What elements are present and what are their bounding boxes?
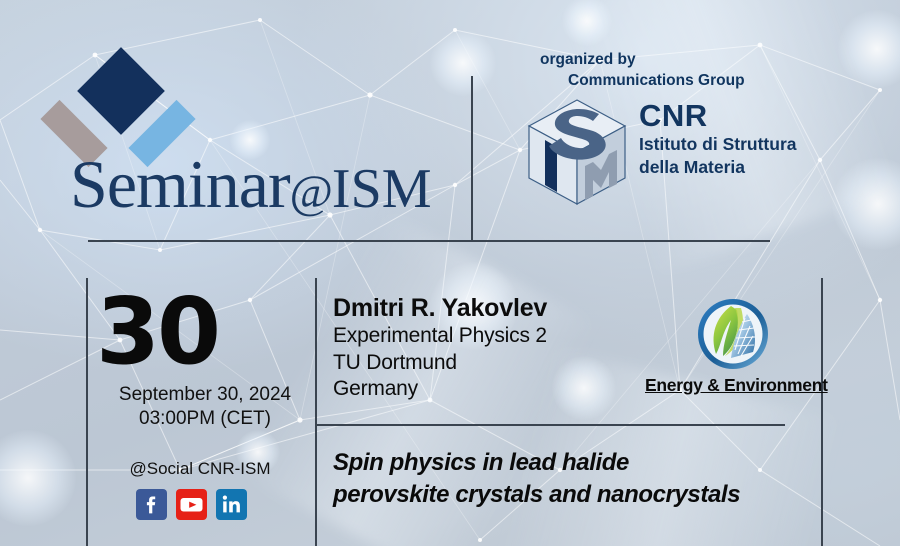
partner-logo-block: Energy & Environment	[645, 296, 820, 396]
cnr-logo-block: CNR Istituto di Struttura della Materia	[523, 96, 883, 214]
ism-cube-logo-icon	[523, 96, 631, 208]
organizer-credit: organized by Communications Group	[540, 50, 880, 92]
speaker-department: Experimental Physics 2	[333, 323, 547, 350]
energy-environment-leaf-solar-icon	[695, 296, 771, 372]
speaker-institution: TU Dortmund	[333, 350, 547, 377]
divider-talk-horizontal	[315, 424, 785, 426]
cnr-institute-line1: Istituto di Struttura	[639, 133, 796, 157]
speaker-country: Germany	[333, 376, 547, 403]
divider-header-horizontal	[88, 240, 770, 242]
wordmark-main: Seminar	[70, 146, 290, 222]
social-handle-label: @Social CNR-ISM	[100, 459, 300, 479]
event-time: 03:00PM (CET)	[100, 407, 310, 431]
cnr-institute-line2: della Materia	[639, 156, 796, 180]
social-icon-row	[136, 489, 247, 520]
logo-diamond-navy	[77, 47, 165, 135]
event-date: September 30, 2024	[100, 383, 310, 407]
speaker-block: Dmitri R. Yakovlev Experimental Physics …	[333, 293, 547, 403]
speaker-name: Dmitri R. Yakovlev	[333, 293, 547, 323]
seminar-brand: Seminar@ISM	[42, 58, 462, 228]
organized-by-line: organized by	[540, 50, 880, 71]
wordmark-at: @	[290, 166, 332, 218]
seminar-wordmark: Seminar@ISM	[70, 150, 432, 218]
linkedin-icon[interactable]	[216, 489, 247, 520]
event-day-number: 30	[96, 286, 218, 378]
seminar-poster: Seminar@ISM organized by Communications …	[0, 0, 900, 546]
divider-header-vertical	[471, 76, 473, 241]
talk-title: Spin physics in lead halide perovskite c…	[333, 447, 833, 512]
organizer-group-name: Communications Group	[540, 71, 880, 92]
cnr-acronym: CNR	[639, 100, 796, 133]
talk-title-line-2: perovskite crystals and nanocrystals	[333, 479, 833, 511]
cnr-text: CNR Istituto di Struttura della Materia	[639, 100, 796, 180]
wordmark-suffix: ISM	[332, 158, 432, 220]
youtube-icon[interactable]	[176, 489, 207, 520]
divider-left-vertical	[86, 278, 88, 546]
partner-label: Energy & Environment	[645, 375, 820, 396]
event-date-time: September 30, 2024 03:00PM (CET)	[100, 383, 310, 432]
talk-title-line-1: Spin physics in lead halide	[333, 447, 833, 479]
facebook-icon[interactable]	[136, 489, 167, 520]
divider-middle-vertical	[315, 278, 317, 546]
